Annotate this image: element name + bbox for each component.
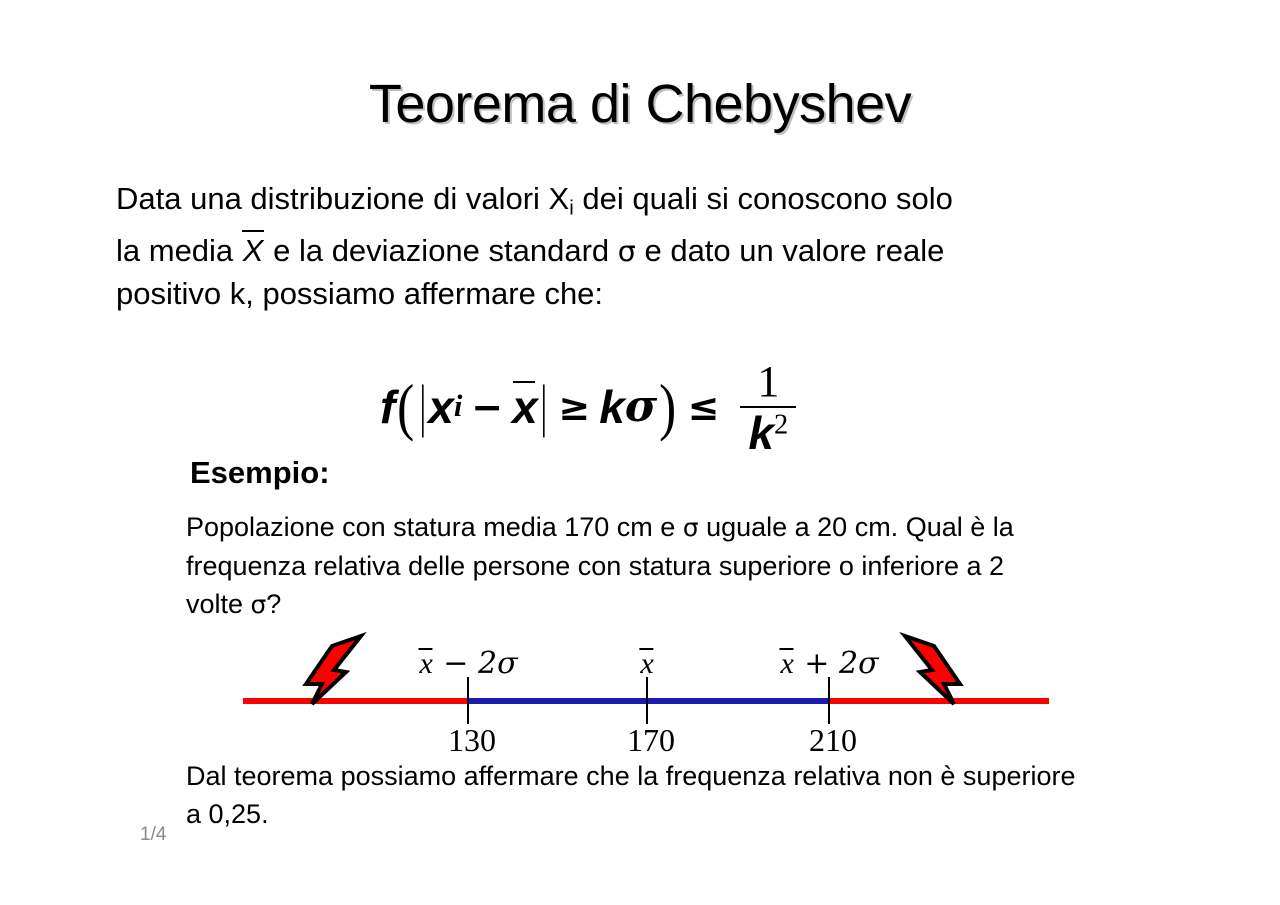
tick-mark-170 — [646, 677, 648, 724]
tick-mark-130 — [467, 677, 469, 724]
tick-top-label-130: x − 2σ — [418, 646, 517, 681]
intro-paragraph: Data una distribuzione di valori Xi dei … — [116, 178, 1172, 315]
x-bar-symbol-left: x — [418, 647, 433, 681]
tick-top-label-210: x + 2σ — [779, 646, 878, 681]
sigma-symbol: σ — [618, 235, 636, 268]
number-line-diagram: x − 2σ x x + 2σ 130 170 210 — [240, 630, 1052, 755]
formula-k: k — [599, 380, 625, 434]
example-heading: Esempio: — [190, 455, 330, 491]
tick-bottom-label-210: 210 — [809, 722, 857, 759]
page-title: Teorema di Chebyshev — [0, 76, 1280, 133]
formula-open-paren: ( — [397, 381, 414, 432]
formula-f: f — [380, 380, 395, 434]
lightning-bolt-right-icon — [890, 632, 1000, 712]
intro-line-1-a: Data una distribuzione di valori X — [116, 181, 569, 216]
formula-leq: ≤ — [679, 385, 729, 429]
example-body-a: Popolazione con statura media 170 cm e — [186, 512, 683, 542]
x-bar-symbol: X — [242, 230, 265, 272]
formula-denominator-base: k — [748, 407, 774, 459]
tick-mark-210 — [828, 677, 830, 724]
formula-minus: − — [462, 385, 512, 429]
sigma-symbol-example-1: σ — [683, 513, 699, 542]
page-number: 1/4 — [140, 824, 166, 846]
formula-denominator-exponent: 2 — [774, 409, 788, 440]
lightning-bolt-left-icon — [266, 632, 376, 712]
intro-line-3: positivo k, possiamo affermare che: — [116, 273, 1172, 315]
sigma-symbol-example-2: σ — [251, 590, 267, 619]
tick-bottom-label-170: 170 — [627, 722, 675, 759]
formula-close-paren: ) — [659, 381, 676, 432]
formula-geq: ≥ — [549, 385, 599, 429]
formula-x-bar: x — [512, 380, 538, 434]
formula-denominator: k2 — [740, 409, 796, 457]
slide-canvas: Teorema di Chebyshev Data una distribuzi… — [0, 0, 1280, 905]
example-body: Popolazione con statura media 170 cm e σ… — [186, 508, 1066, 624]
intro-line-2: la media X e la deviazione standard σ e … — [116, 230, 1172, 273]
formula-fraction: 1 k2 — [740, 360, 796, 457]
x-bar-symbol-right: x — [779, 647, 794, 681]
formula-sigma: σ — [625, 381, 657, 432]
intro-line-2-b: e la deviazione standard — [264, 233, 617, 268]
example-body-c: ? — [266, 589, 281, 619]
x-bar-symbol-mean: x — [639, 647, 654, 681]
intro-line-2-c: e dato un valore reale — [636, 233, 945, 268]
tick-top-label-170: x — [639, 646, 654, 681]
formula-abs-open: | — [419, 383, 425, 429]
intro-line-2-a: la media — [116, 233, 242, 268]
intro-line-1-b: dei quali si conoscono solo — [574, 181, 953, 216]
formula-numerator: 1 — [747, 360, 789, 404]
formula-x-subscript: i — [454, 389, 462, 424]
formula-abs-close: | — [540, 383, 546, 429]
formula-x: x — [428, 380, 454, 434]
chebyshev-formula: f(|xi−x|≥kσ)≤ 1 k2 — [380, 358, 796, 455]
tick-top-suffix-210: + 2σ — [795, 646, 879, 681]
tick-bottom-label-130: 130 — [448, 722, 496, 759]
conclusion-text: Dal teorema possiamo affermare che la fr… — [186, 757, 1086, 833]
tick-top-suffix-130: − 2σ — [434, 646, 518, 681]
intro-line-1: Data una distribuzione di valori Xi dei … — [116, 178, 1172, 230]
